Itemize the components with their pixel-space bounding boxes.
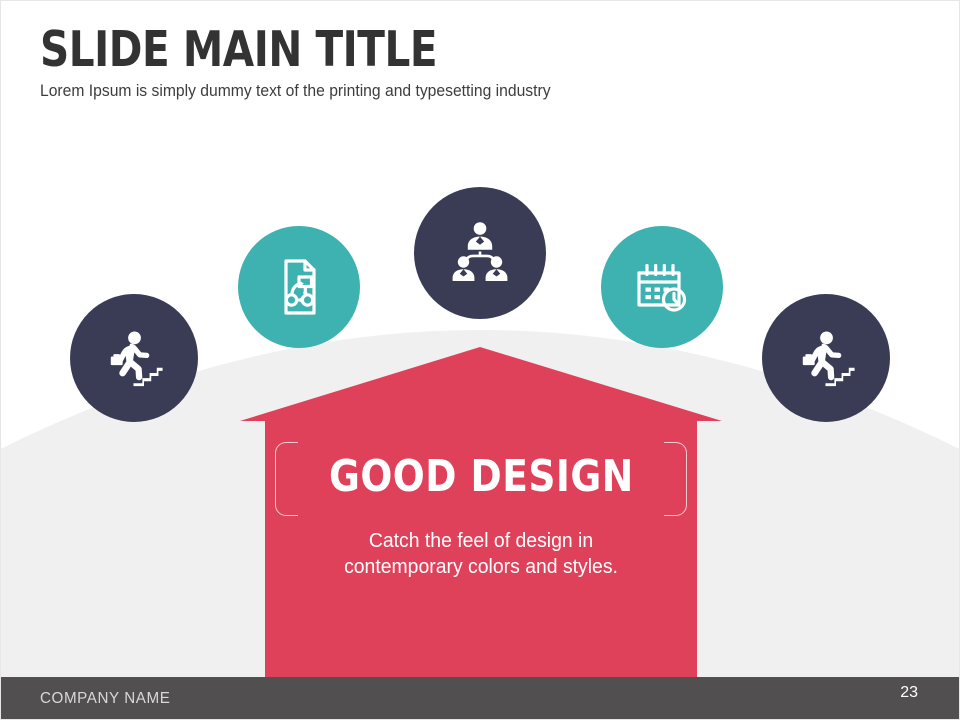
businessperson-climbing-stairs-icon [793, 325, 859, 391]
banner-text-block: GOOD DESIGN Catch the feel of design in … [265, 455, 697, 581]
banner-body-text: Catch the feel of design in contemporary… [271, 528, 690, 581]
banner-body-line-1: Catch the feel of design in [369, 530, 593, 552]
footer-company-name: COMPANY NAME [40, 690, 170, 708]
slide-footer: COMPANY NAME 23 [0, 677, 960, 720]
team-org-chart-icon [445, 218, 515, 288]
banner-headline: GOOD DESIGN [329, 455, 634, 499]
right-bracket-decoration [664, 442, 687, 516]
icon-circle-left[interactable] [238, 226, 360, 348]
icon-circle-far-left[interactable] [70, 294, 198, 422]
banner-headline-wrapper: GOOD DESIGN [275, 455, 688, 499]
footer-page-number: 23 [900, 684, 918, 702]
icon-circle-center[interactable] [414, 187, 546, 319]
banner-body-line-2: contemporary colors and styles. [344, 556, 618, 578]
icon-circle-far-right[interactable] [762, 294, 890, 422]
document-flowchart-icon [267, 255, 331, 319]
icon-circle-right[interactable] [601, 226, 723, 348]
slide-canvas: SLIDE MAIN TITLE Lorem Ipsum is simply d… [0, 0, 960, 720]
businessperson-climbing-stairs-icon [101, 325, 167, 391]
calendar-clock-icon [630, 255, 694, 319]
left-bracket-decoration [275, 442, 298, 516]
